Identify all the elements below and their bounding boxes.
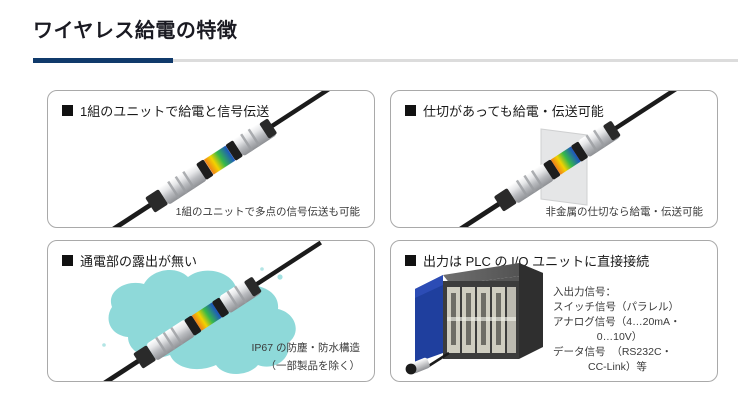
spec-line: 入出力信号： [553,285,681,300]
panel-heading-label: 仕切があっても給電・伝送可能 [423,101,604,120]
panel-heading: 出力は PLC の I/O ユニットに直接接続 [405,251,649,270]
plc-rack [406,263,543,374]
plc-connector [406,353,449,374]
panel-heading: 1組のユニットで給電と信号伝送 [62,101,269,120]
plc-signal-spec-list: 入出力信号： スイッチ信号（パラレル） アナログ信号（4…20mA・ 0…10V… [553,285,681,375]
square-bullet-icon [405,255,416,266]
panel-caption-line1: IP67 の防塵・防水構造 [251,340,360,355]
title-divider-accent [33,58,173,63]
spec-line: スイッチ信号（パラレル） [553,300,681,315]
panel-heading-label: 通電部の露出が無い [80,251,197,270]
panel-caption-line2: （一部製品を除く） [266,358,361,373]
partition-plate [541,129,587,205]
panel-heading: 仕切があっても給電・伝送可能 [405,101,604,120]
panel-heading-label: 1組のユニットで給電と信号伝送 [80,101,269,120]
title-divider-rest [173,59,738,62]
panel-single-unit: 1組のユニットで給電と信号伝送 [47,90,375,228]
square-bullet-icon [62,255,73,266]
panel-heading-label: 出力は PLC の I/O ユニットに直接接続 [423,251,649,270]
slide-root: ワイヤレス給電の特徴 1組のユニットで給電と信号伝送 [0,0,747,408]
spec-line: アナログ信号（4…20mA・ [553,315,681,330]
square-bullet-icon [62,105,73,116]
spec-line: データ信号 （RS232C・ [553,345,681,360]
panel-partition: 仕切があっても給電・伝送可能 [390,90,718,228]
square-bullet-icon [405,105,416,116]
panel-heading: 通電部の露出が無い [62,251,197,270]
page-title: ワイヤレス給電の特徴 [33,14,237,43]
panel-no-exposed-contacts: 通電部の露出が無い [47,240,375,382]
panel-caption: 1組のユニットで多点の信号伝送も可能 [176,204,360,219]
spec-line: CC-Link）等 [553,360,681,375]
spec-line: 0…10V） [553,330,681,345]
panel-caption: 非金属の仕切なら給電・伝送可能 [546,204,704,219]
title-divider [33,58,738,63]
panel-plc-io: 出力は PLC の I/O ユニットに直接接続 [390,240,718,382]
